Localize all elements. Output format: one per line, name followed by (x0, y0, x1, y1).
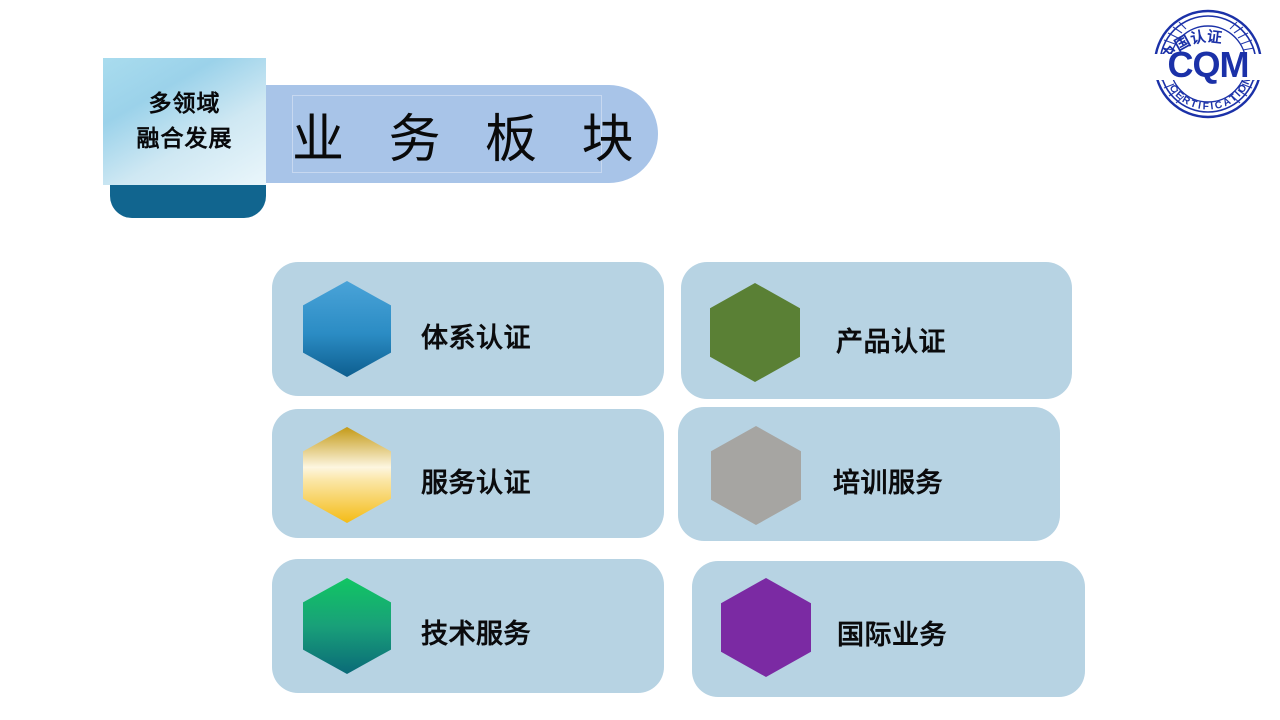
business-segments-grid: 体系认证产品认证服务认证培训服务技术服务国际业务 (0, 0, 1280, 720)
hexagon-icon (710, 283, 800, 382)
hexagon-icon (721, 578, 811, 677)
hexagon-icon (711, 426, 801, 525)
business-segment-label: 服务认证 (421, 461, 531, 500)
hexagon-icon (303, 281, 391, 377)
hexagon-icon (303, 578, 391, 674)
slide-canvas: 业 务 板 块 多领域 融合发展 (0, 0, 1280, 720)
business-segment-label: 产品认证 (836, 320, 946, 359)
business-segment-label: 国际业务 (837, 613, 947, 652)
hexagon-icon (303, 427, 391, 523)
business-segment-label: 培训服务 (833, 461, 943, 500)
business-segment-label: 体系认证 (421, 316, 531, 355)
business-segment-label: 技术服务 (421, 612, 531, 651)
